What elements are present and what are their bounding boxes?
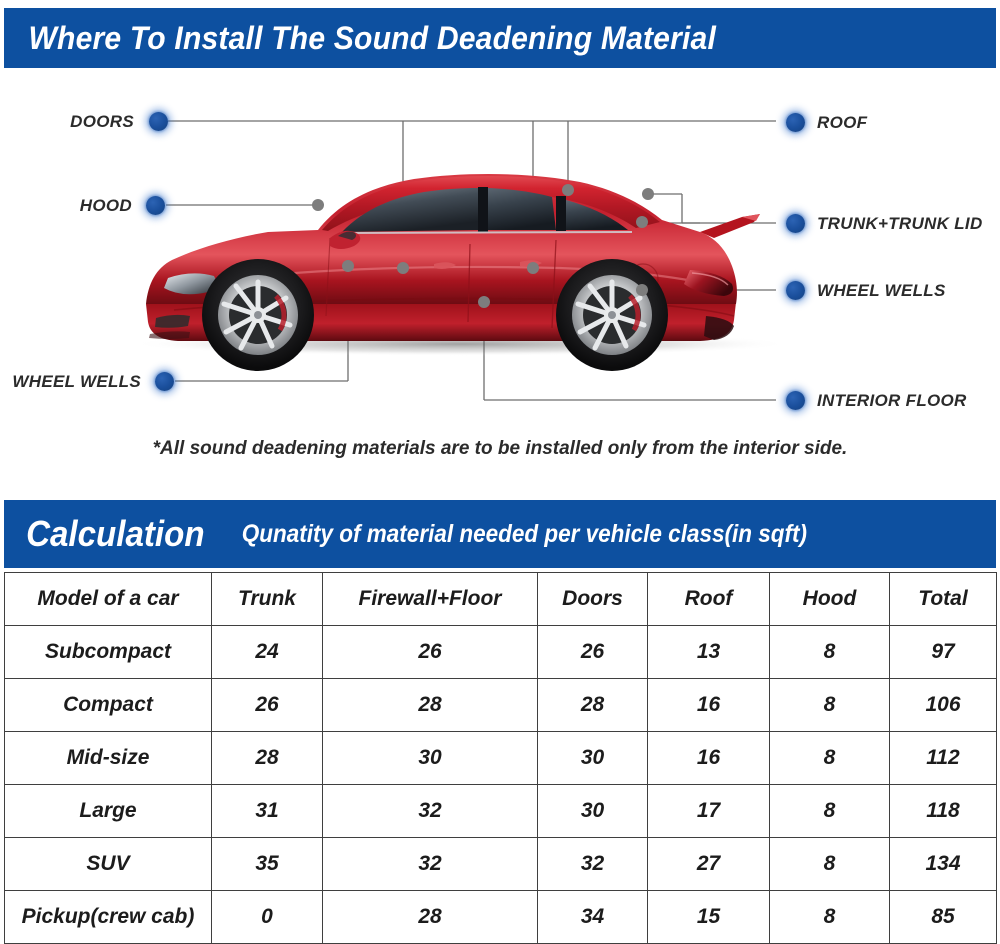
cell-hood: 8 [770, 785, 890, 838]
cell-total: 97 [890, 626, 997, 679]
callout-dot-interior-floor[interactable] [786, 391, 805, 410]
cell-doors: 30 [538, 732, 648, 785]
table-row: Pickup(crew cab) 0 28 34 15 8 85 [5, 891, 997, 944]
cell-roof: 27 [648, 838, 770, 891]
cell-roof: 15 [648, 891, 770, 944]
table-header-row: Model of a car Trunk Firewall+Floor Door… [5, 573, 997, 626]
cell-model: Subcompact [5, 626, 212, 679]
col-header-trunk: Trunk [212, 573, 323, 626]
cell-hood: 8 [770, 732, 890, 785]
table-row: Mid-size 28 30 30 16 8 112 [5, 732, 997, 785]
diagram-footnote: *All sound deadening materials are to be… [0, 438, 1000, 460]
table-row: SUV 35 32 32 27 8 134 [5, 838, 997, 891]
cell-trunk: 35 [212, 838, 323, 891]
cell-model: SUV [5, 838, 212, 891]
cell-doors: 30 [538, 785, 648, 838]
infographic-page: Where To Install The Sound Deadening Mat… [0, 0, 1000, 941]
cell-hood: 8 [770, 626, 890, 679]
cell-total: 85 [890, 891, 997, 944]
col-header-hood: Hood [770, 573, 890, 626]
cell-doors: 26 [538, 626, 648, 679]
cell-model: Large [5, 785, 212, 838]
callout-label-roof: ROOF [817, 113, 867, 133]
cell-firewall: 30 [323, 732, 538, 785]
cell-model: Pickup(crew cab) [5, 891, 212, 944]
cell-total: 134 [890, 838, 997, 891]
cell-trunk: 0 [212, 891, 323, 944]
cell-trunk: 26 [212, 679, 323, 732]
cell-doors: 34 [538, 891, 648, 944]
callout-dot-doors[interactable] [149, 112, 168, 131]
cell-trunk: 24 [212, 626, 323, 679]
cell-hood: 8 [770, 891, 890, 944]
header-bar: Where To Install The Sound Deadening Mat… [4, 8, 996, 68]
cell-model: Mid-size [5, 732, 212, 785]
col-header-firewall: Firewall+Floor [323, 573, 538, 626]
table-row: Subcompact 24 26 26 13 8 97 [5, 626, 997, 679]
callout-dot-wheel-wells-right[interactable] [786, 281, 805, 300]
callout-dot-wheel-wells-left[interactable] [155, 372, 174, 391]
calculation-table-wrap: Model of a car Trunk Firewall+Floor Door… [4, 572, 996, 937]
cell-total: 106 [890, 679, 997, 732]
cell-roof: 17 [648, 785, 770, 838]
table-row: Compact 26 28 28 16 8 106 [5, 679, 997, 732]
callout-dot-roof[interactable] [786, 113, 805, 132]
car-illustration [0, 72, 1000, 484]
page-title: Where To Install The Sound Deadening Mat… [4, 20, 716, 57]
callout-dot-trunk[interactable] [786, 214, 805, 233]
callout-label-doors: DOORS [0, 112, 134, 132]
rear-wheel [556, 259, 668, 371]
cell-firewall: 28 [323, 679, 538, 732]
callout-dot-hood[interactable] [146, 196, 165, 215]
cell-firewall: 32 [323, 785, 538, 838]
col-header-roof: Roof [648, 573, 770, 626]
calculation-bar: Calculation Qunatity of material needed … [4, 500, 996, 568]
cell-firewall: 32 [323, 838, 538, 891]
cell-hood: 8 [770, 838, 890, 891]
calculation-title: Calculation [4, 513, 205, 555]
front-wheel [202, 259, 314, 371]
col-header-doors: Doors [538, 573, 648, 626]
col-header-total: Total [890, 573, 997, 626]
col-header-model: Model of a car [5, 573, 212, 626]
cell-model: Compact [5, 679, 212, 732]
car-diagram-section: DOORS HOOD WHEEL WELLS ROOF TRUNK+TRUNK … [0, 72, 1000, 484]
callout-label-wheel-wells-left: WHEEL WELLS [0, 372, 141, 392]
cell-doors: 32 [538, 838, 648, 891]
cell-firewall: 28 [323, 891, 538, 944]
cell-roof: 13 [648, 626, 770, 679]
cell-firewall: 26 [323, 626, 538, 679]
cell-trunk: 31 [212, 785, 323, 838]
callout-label-wheel-wells-right: WHEEL WELLS [817, 281, 946, 301]
calculation-table: Model of a car Trunk Firewall+Floor Door… [4, 572, 997, 944]
cell-total: 112 [890, 732, 997, 785]
callout-label-hood: HOOD [0, 196, 132, 216]
cell-trunk: 28 [212, 732, 323, 785]
cell-roof: 16 [648, 679, 770, 732]
cell-total: 118 [890, 785, 997, 838]
cell-doors: 28 [538, 679, 648, 732]
cell-hood: 8 [770, 679, 890, 732]
table-row: Large 31 32 30 17 8 118 [5, 785, 997, 838]
calculation-subtitle: Qunatity of material needed per vehicle … [222, 520, 807, 549]
callout-label-trunk: TRUNK+TRUNK LID [817, 214, 983, 234]
callout-label-interior-floor: INTERIOR FLOOR [817, 391, 967, 411]
cell-roof: 16 [648, 732, 770, 785]
